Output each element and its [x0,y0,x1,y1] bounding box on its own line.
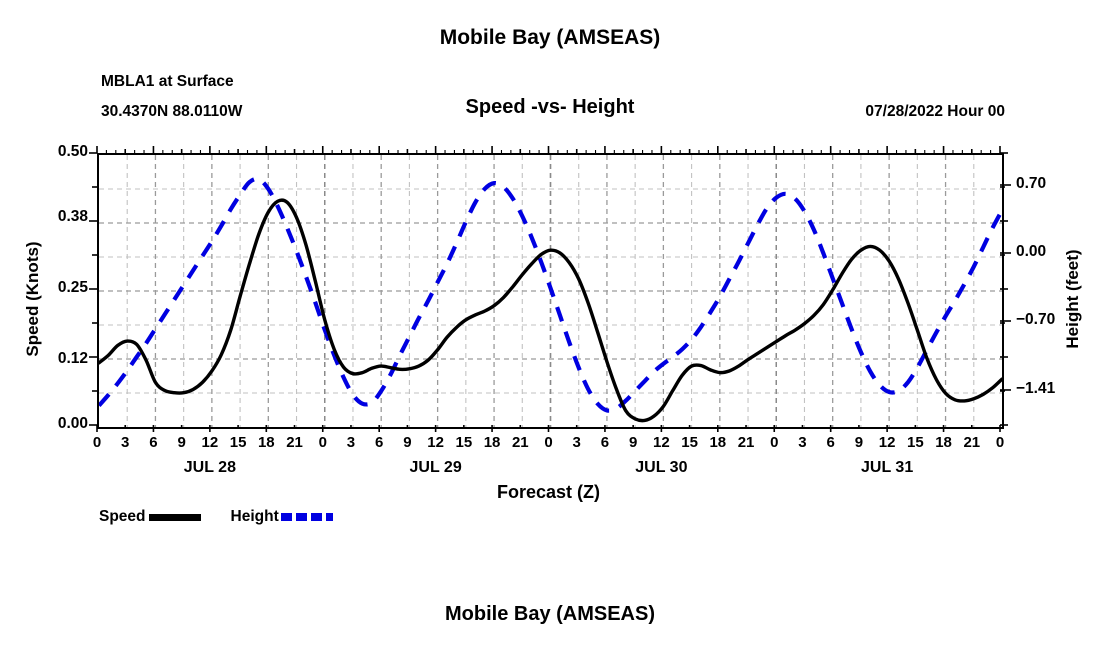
x-axis-day-label: JUL 30 [601,459,721,477]
page-title-bottom: Mobile Bay (AMSEAS) [0,603,1100,626]
legend-entry-height: Height [231,508,333,526]
chart-page: Mobile Bay (AMSEAS) MBLA1 at Surface 30.… [0,0,1100,650]
y-axis-right-tick-label: 0.00 [1016,243,1046,261]
model-run-timestamp: 07/28/2022 Hour 00 [865,103,1005,121]
y-axis-left-tick-label: 0.25 [58,279,88,297]
x-axis-tick-label: 3 [564,434,590,451]
x-axis-tick-label: 15 [451,434,477,451]
y-axis-right-title: Height (feet) [1063,189,1083,409]
legend-label-speed: Speed [99,508,146,526]
page-title-top: Mobile Bay (AMSEAS) [0,26,1100,50]
x-axis-tick-label: 9 [169,434,195,451]
x-axis-tick-label: 21 [733,434,759,451]
x-axis-tick-label: 3 [112,434,138,451]
y-axis-left-tick-label: 0.50 [58,143,88,161]
x-axis-tick-label: 12 [874,434,900,451]
x-axis-tick-label: 18 [931,434,957,451]
legend-label-height: Height [231,508,279,526]
y-axis-right-tick-label: −0.70 [1016,311,1055,329]
x-axis-day-label: JUL 31 [827,459,947,477]
x-axis-tick-label: 21 [507,434,533,451]
x-axis-tick-label: 12 [197,434,223,451]
y-axis-right-tick-label: −1.41 [1016,380,1055,398]
x-axis-day-label: JUL 28 [150,459,270,477]
x-axis-tick-label: 21 [282,434,308,451]
x-axis-tick-label: 15 [225,434,251,451]
y-axis-left-tick-label: 0.00 [58,415,88,433]
x-axis-tick-label: 9 [846,434,872,451]
x-axis-tick-label: 3 [338,434,364,451]
x-axis-tick-label: 9 [394,434,420,451]
x-axis-tick-label: 6 [140,434,166,451]
x-axis-tick-label: 18 [479,434,505,451]
y-axis-right-tick-label: 0.70 [1016,175,1046,193]
x-axis-tick-label: 21 [959,434,985,451]
x-axis-tick-label: 3 [789,434,815,451]
x-axis-tick-label: 6 [592,434,618,451]
x-axis-tick-label: 0 [761,434,787,451]
x-axis-tick-label: 0 [310,434,336,451]
x-axis-title: Forecast (Z) [97,482,1000,503]
y-axis-left-tick-label: 0.38 [58,208,88,226]
y-axis-left-tick-label: 0.12 [58,350,88,368]
chart-legend: Speed Height [99,508,333,526]
plot-canvas [99,155,1002,427]
legend-entry-speed: Speed [99,508,231,526]
plot-area [97,153,1004,429]
x-axis-tick-label: 18 [705,434,731,451]
x-axis-tick-label: 6 [818,434,844,451]
legend-swatch-height-line [281,513,333,521]
y-axis-left-title: Speed (Knots) [23,189,43,409]
x-axis-tick-label: 0 [536,434,562,451]
x-axis-tick-label: 12 [648,434,674,451]
x-axis-tick-label: 0 [84,434,110,451]
x-axis-tick-label: 18 [253,434,279,451]
x-axis-tick-label: 9 [620,434,646,451]
x-axis-tick-label: 15 [902,434,928,451]
x-axis-tick-label: 15 [677,434,703,451]
x-axis-day-label: JUL 29 [376,459,496,477]
x-axis-tick-label: 12 [423,434,449,451]
x-axis-tick-label: 6 [366,434,392,451]
legend-swatch-speed-line [149,514,201,521]
station-name: MBLA1 at Surface [101,73,234,91]
x-axis-tick-label: 0 [987,434,1013,451]
